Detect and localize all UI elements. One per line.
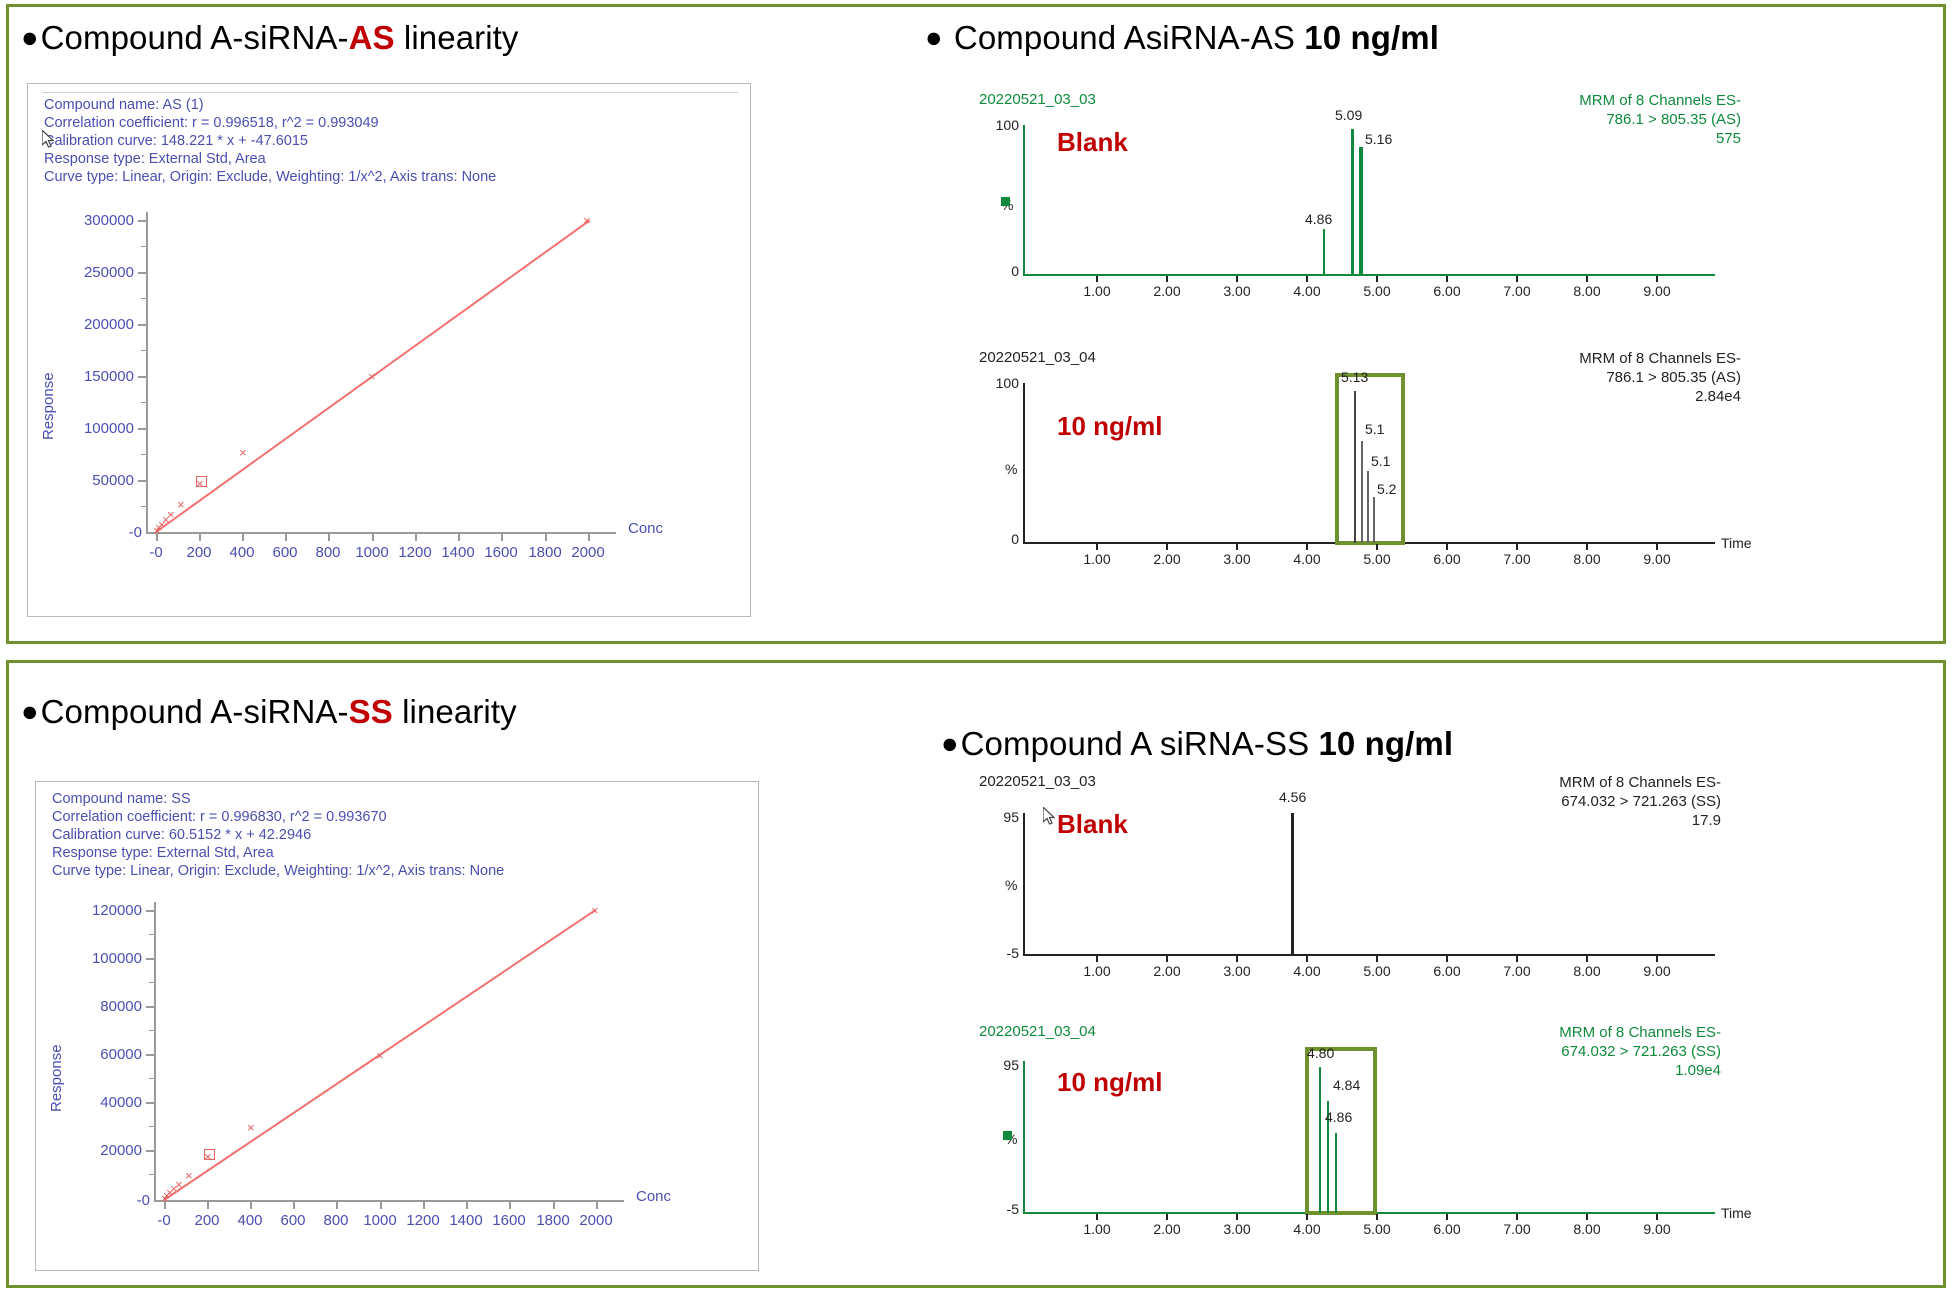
x-tick-1600: 1600: [487, 1212, 531, 1229]
chromatogram-as-10ngml: 20220521_03_04 MRM of 8 Channels ES- 786…: [961, 349, 1751, 619]
x-tick-1200: 1200: [393, 544, 437, 561]
x-tick-2000: 2000: [566, 544, 610, 561]
x-tick-2000: 2000: [574, 1212, 618, 1229]
sample-id: 20220521_03_03: [979, 91, 1096, 108]
peak-5-16: [1359, 147, 1363, 275]
peak-label-5-13: 5.13: [1341, 369, 1368, 385]
y-tick-300000: 300000: [48, 212, 134, 229]
y-tick-200000: 200000: [48, 316, 134, 333]
peak-5-2: [1373, 497, 1375, 543]
x-tick-3: 3.00: [1212, 1221, 1262, 1237]
y-tick-20000: 20000: [56, 1142, 142, 1159]
peak-4-80: [1319, 1067, 1321, 1213]
sample-id: 20220521_03_04: [979, 349, 1096, 366]
x-tick-3: 3.00: [1212, 963, 1262, 979]
y-top-label: 95: [975, 1057, 1019, 1073]
x-tick-7: 7.00: [1492, 283, 1542, 299]
x-tick-8: 8.00: [1562, 551, 1612, 567]
heading-as-10ngml: ● Compound AsiRNA-AS 10 ng/ml: [925, 19, 1439, 57]
y-axis: [1023, 383, 1025, 543]
heading-ss-10ngml: ●Compound A siRNA-SS 10 ng/ml: [941, 725, 1453, 763]
x-tick-1400: 1400: [436, 544, 480, 561]
y-bottom-label: -5: [979, 1201, 1019, 1217]
x-tick-6: 6.00: [1422, 283, 1472, 299]
y-tick-60000: 60000: [56, 1046, 142, 1063]
peak-5-1b: [1367, 471, 1369, 543]
calibration-report-as: Compound name: AS (1) Correlation coeffi…: [27, 83, 751, 617]
y-tick-40000: 40000: [56, 1094, 142, 1111]
heading-highlight-ss: SS: [349, 693, 393, 730]
chromatogram-panel-ss: 20220521_03_03 MRM of 8 Channels ES- 674…: [961, 773, 1751, 1273]
peak-label-4-86: 4.86: [1305, 211, 1332, 227]
y-bottom-label: 0: [985, 263, 1019, 279]
y-axis-title: Response: [40, 372, 57, 440]
x-tick-6: 6.00: [1422, 551, 1472, 567]
y-tick-50000: 50000: [48, 472, 134, 489]
x-tick-1: 1.00: [1072, 963, 1122, 979]
y-tick-80000: 80000: [56, 998, 142, 1015]
y-tick-150000: 150000: [48, 368, 134, 385]
peak-label-5-2: 5.2: [1377, 481, 1396, 497]
x-axis-title: Conc: [636, 1188, 671, 1205]
y-tick-120000: 120000: [56, 902, 142, 919]
x-tick-5: 5.00: [1352, 963, 1402, 979]
peak-label-5-09: 5.09: [1335, 107, 1362, 123]
x-axis-title: Time: [1721, 535, 1752, 551]
heading-as-linearity: ●Compound A-siRNA-AS linearity: [21, 19, 519, 57]
heading-conc-bold: 10 ng/ml: [1318, 725, 1453, 762]
x-tick-200: 200: [179, 544, 219, 561]
intensity-value: 17.9: [1401, 811, 1721, 830]
bullet-icon: ●: [941, 728, 959, 760]
x-tick-7: 7.00: [1492, 551, 1542, 567]
bullet-icon: ●: [21, 696, 39, 728]
peak-5-09: [1351, 129, 1354, 275]
chromatogram-ss-blank: 20220521_03_03 MRM of 8 Channels ES- 674…: [961, 773, 1751, 1023]
peak-highlight-box: [1335, 373, 1405, 545]
x-axis-title: Conc: [628, 520, 663, 537]
heading-text-part2: linearity: [395, 19, 519, 56]
bullet-icon: ●: [21, 22, 39, 54]
x-axis-title: Time: [1721, 1205, 1752, 1221]
heading-text-part1: Compound A siRNA-SS: [961, 725, 1319, 762]
x-tick-600: 600: [265, 544, 305, 561]
mrm-line-1: MRM of 8 Channels ES-: [1421, 349, 1741, 368]
x-tick-4: 4.00: [1282, 1221, 1332, 1237]
x-tick-1600: 1600: [479, 544, 523, 561]
heading-text-part2: linearity: [393, 693, 517, 730]
x-tick-8: 8.00: [1562, 963, 1612, 979]
x-tick-5: 5.00: [1352, 551, 1402, 567]
y-axis-percent: %: [1005, 877, 1017, 893]
bullet-icon: ●: [925, 22, 943, 54]
chromatogram-as-blank: 20220521_03_03 MRM of 8 Channels ES- 786…: [961, 89, 1751, 349]
peak-label-4-86: 4.86: [1325, 1109, 1352, 1125]
peak-5-13: [1354, 391, 1356, 543]
x-tick-5: 5.00: [1352, 283, 1402, 299]
x-tick-2: 2.00: [1142, 963, 1192, 979]
mrm-line-1: MRM of 8 Channels ES-: [1401, 1023, 1721, 1042]
peak-label-5-1b: 5.1: [1371, 453, 1390, 469]
panel-top: ●Compound A-siRNA-AS linearity ● Compoun…: [6, 4, 1946, 644]
x-tick-6: 6.00: [1422, 963, 1472, 979]
chromatogram-panel-as: 20220521_03_03 MRM of 8 Channels ES- 786…: [961, 89, 1751, 619]
x-tick-9: 9.00: [1632, 963, 1682, 979]
sample-type-label: 10 ng/ml: [1057, 411, 1162, 442]
mrm-line-2: 786.1 > 805.35 (AS): [1421, 368, 1741, 387]
sample-id: 20220521_03_03: [979, 773, 1096, 790]
peak-label-5-1a: 5.1: [1365, 421, 1384, 437]
mrm-line-2: 786.1 > 805.35 (AS): [1421, 110, 1741, 129]
x-tick-9: 9.00: [1632, 1221, 1682, 1237]
y-axis: [1023, 1061, 1025, 1213]
heading-text-part1: Compound A-siRNA-: [41, 19, 349, 56]
x-tick-400: 400: [222, 544, 262, 561]
intensity-value: 575: [1421, 129, 1741, 148]
x-tick-2: 2.00: [1142, 551, 1192, 567]
y-axis-title: Response: [48, 1044, 65, 1112]
chromatogram-ss-10ngml: 20220521_03_04 MRM of 8 Channels ES- 674…: [961, 1023, 1751, 1273]
x-tick-1000: 1000: [358, 1212, 402, 1229]
peak-label-4-56: 4.56: [1279, 789, 1306, 805]
x-tick-4: 4.00: [1282, 283, 1332, 299]
peak-4-56: [1291, 813, 1294, 955]
peak-label-5-16: 5.16: [1365, 131, 1392, 147]
x-tick-1800: 1800: [531, 1212, 575, 1229]
y-tick-100000: 100000: [56, 950, 142, 967]
x-tick-3: 3.00: [1212, 283, 1262, 299]
heading-highlight-as: AS: [349, 19, 395, 56]
x-tick-5: 5.00: [1352, 1221, 1402, 1237]
peak-highlight-box: [1305, 1047, 1377, 1215]
trace-color-marker: [1003, 1131, 1012, 1140]
sample-id: 20220521_03_04: [979, 1023, 1096, 1040]
x-tick-7: 7.00: [1492, 963, 1542, 979]
x-tick-600: 600: [273, 1212, 313, 1229]
y-tick-250000: 250000: [48, 264, 134, 281]
y-tick-zero: -0: [116, 524, 142, 541]
trace-color-marker: [1001, 197, 1010, 206]
x-tick-9: 9.00: [1632, 283, 1682, 299]
calibration-plot-ss: 120000 100000 80000 60000 40000 20000 -0…: [36, 782, 760, 1272]
heading-text-part1: Compound AsiRNA-AS: [954, 19, 1304, 56]
x-tick-4: 4.00: [1282, 551, 1332, 567]
y-axis: [1023, 813, 1025, 955]
mrm-line-1: MRM of 8 Channels ES-: [1421, 91, 1741, 110]
x-tick-4: 4.00: [1282, 963, 1332, 979]
peak-4-86: [1335, 1133, 1337, 1213]
x-tick-800: 800: [316, 1212, 356, 1229]
y-bottom-label: 0: [985, 531, 1019, 547]
y-top-label: 100: [975, 375, 1019, 391]
x-tick-6: 6.00: [1422, 1221, 1472, 1237]
x-tick-9: 9.00: [1632, 551, 1682, 567]
x-tick-7: 7.00: [1492, 1221, 1542, 1237]
y-tick-zero: -0: [124, 1192, 150, 1209]
x-tick-200: 200: [187, 1212, 227, 1229]
y-axis: [1023, 125, 1025, 275]
peak-4-86: [1323, 229, 1325, 275]
x-tick-1: 1.00: [1072, 551, 1122, 567]
x-axis: [1023, 954, 1715, 956]
x-tick-1800: 1800: [523, 544, 567, 561]
x-tick-1: 1.00: [1072, 283, 1122, 299]
heading-text-part1: Compound A-siRNA-: [41, 693, 349, 730]
peak-5-1a: [1361, 441, 1363, 543]
x-tick-2: 2.00: [1142, 283, 1192, 299]
sample-type-label: 10 ng/ml: [1057, 1067, 1162, 1098]
y-top-label: 95: [975, 809, 1019, 825]
mrm-line-2: 674.032 > 721.263 (SS): [1401, 1042, 1721, 1061]
mrm-line-2: 674.032 > 721.263 (SS): [1401, 792, 1721, 811]
x-tick-8: 8.00: [1562, 1221, 1612, 1237]
x-tick-1: 1.00: [1072, 1221, 1122, 1237]
x-tick-8: 8.00: [1562, 283, 1612, 299]
x-tick-0: -0: [136, 544, 176, 561]
y-top-label: 100: [975, 117, 1019, 133]
y-tick-100000: 100000: [48, 420, 134, 437]
x-tick-400: 400: [230, 1212, 270, 1229]
x-tick-1200: 1200: [401, 1212, 445, 1229]
x-tick-2: 2.00: [1142, 1221, 1192, 1237]
x-tick-3: 3.00: [1212, 551, 1262, 567]
heading-ss-linearity: ●Compound A-siRNA-SS linearity: [21, 693, 517, 731]
x-tick-0: -0: [144, 1212, 184, 1229]
mrm-line-1: MRM of 8 Channels ES-: [1401, 773, 1721, 792]
intensity-value: 1.09e4: [1401, 1061, 1721, 1080]
x-tick-800: 800: [308, 544, 348, 561]
x-tick-1000: 1000: [350, 544, 394, 561]
x-tick-1400: 1400: [444, 1212, 488, 1229]
y-axis: [154, 902, 156, 1202]
x-axis: [1023, 274, 1715, 276]
intensity-value: 2.84e4: [1421, 387, 1741, 406]
y-axis: [146, 212, 148, 534]
heading-conc-bold: 10 ng/ml: [1304, 19, 1439, 56]
peak-label-4-84: 4.84: [1333, 1077, 1360, 1093]
calibration-report-ss: Compound name: SS Correlation coefficien…: [35, 781, 759, 1271]
y-bottom-label: -5: [979, 945, 1019, 961]
panel-bottom: ●Compound A-siRNA-SS linearity ●Compound…: [6, 660, 1946, 1288]
slide-root: ●Compound A-siRNA-AS linearity ● Compoun…: [0, 0, 1952, 1294]
calibration-plot-as: 300000 250000 200000 150000 100000 50000…: [28, 84, 752, 618]
y-axis-percent: %: [1005, 461, 1017, 477]
peak-label-4-80: 4.80: [1307, 1045, 1334, 1061]
sample-type-label: Blank: [1057, 127, 1128, 158]
sample-type-label: Blank: [1057, 809, 1128, 840]
